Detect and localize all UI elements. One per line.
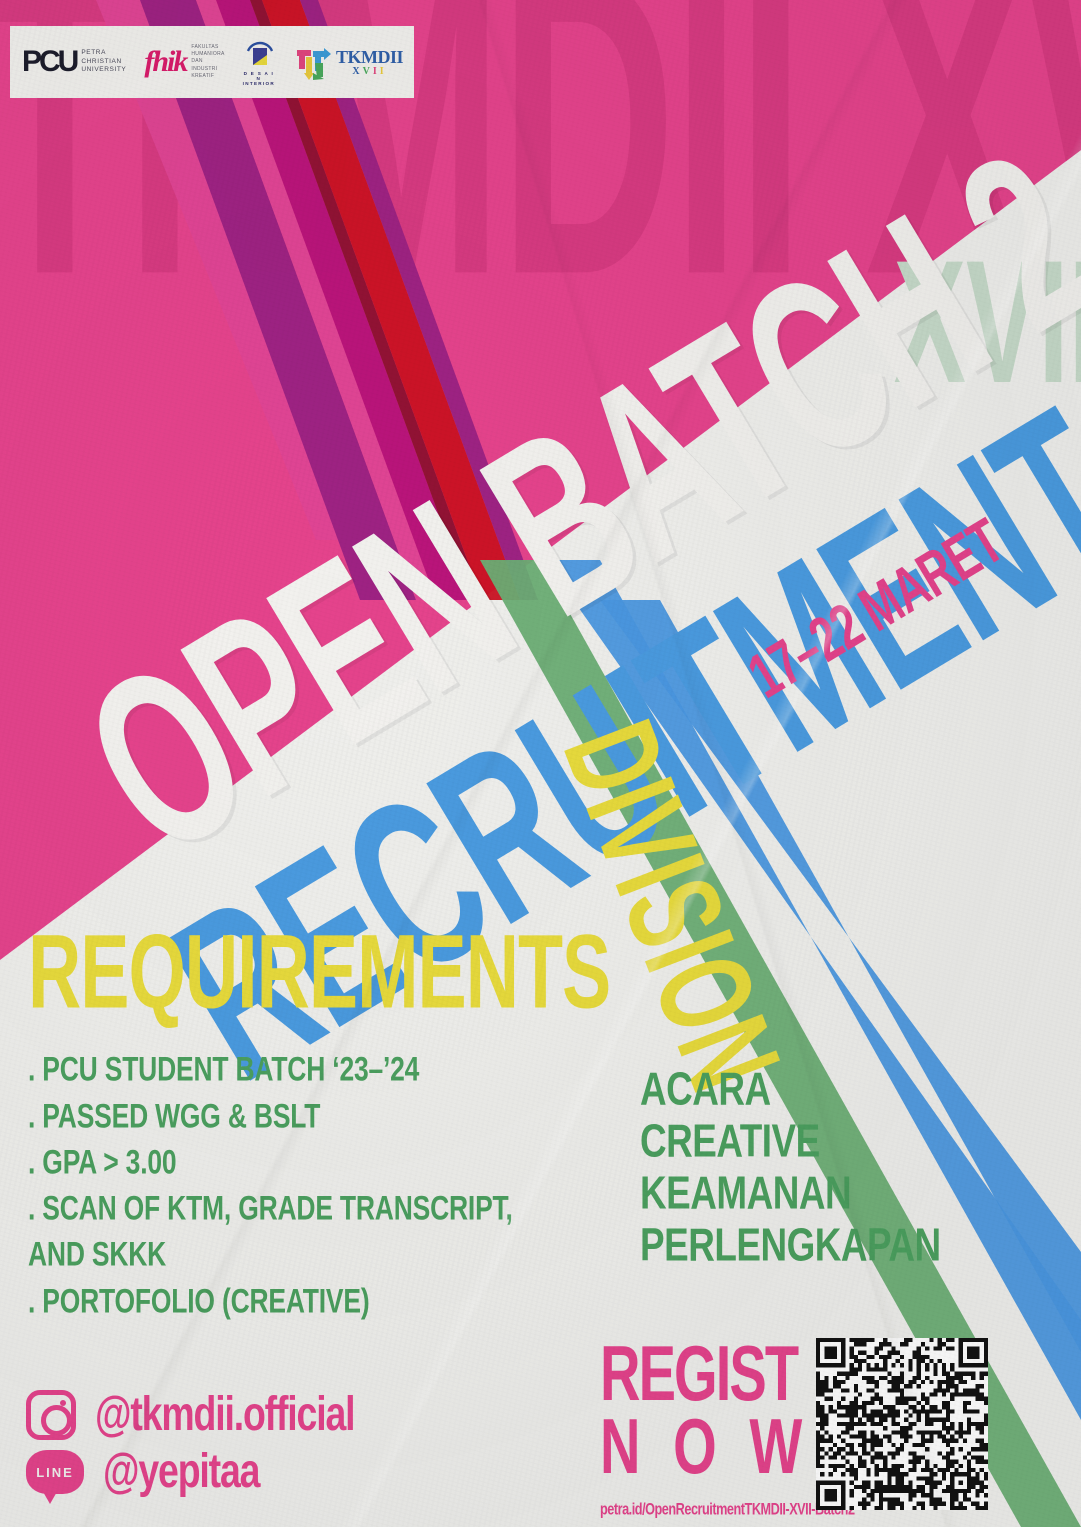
fhik-line-3: DAN INDUSTRI [191, 58, 217, 71]
instagram-handle: @tkmdii.official [95, 1388, 354, 1443]
social-row-line[interactable]: LINE @yepitaa [26, 1450, 365, 1494]
sponsor-logo-bar: PCU PETRA CHRISTIAN UNIVERSITY fhik FAKU… [10, 26, 414, 98]
line-handle: @yepitaa [103, 1445, 259, 1500]
desain-interior-mark-icon [245, 39, 273, 69]
fhik-line-4: KREATIF [191, 73, 214, 79]
logo-fhik: fhik FAKULTAS HUMANIORA DAN INDUSTRI KRE… [144, 26, 224, 98]
fhik-line-2: HUMANIORA [191, 51, 224, 57]
division-item: PERLENGKAPAN [640, 1214, 941, 1277]
di-line-2: INTERIOR [243, 81, 275, 86]
requirement-item: . PORTOFOLIO (CREATIVE) [28, 1278, 577, 1326]
logo-tkmdii: TKMDII XVII [293, 26, 403, 98]
logo-pcu: PCU PETRA CHRISTIAN UNIVERSITY [22, 26, 126, 98]
pcu-line-2: CHRISTIAN [81, 58, 121, 65]
requirement-item: . PASSED WGG & BSLT [28, 1093, 577, 1141]
requirements-block: REQUIREMENTS . PCU STUDENT BATCH ‘23–’24… [28, 926, 588, 1324]
tkmdii-roman-text: XVII [352, 67, 386, 77]
fhik-lockup-text: FAKULTAS HUMANIORA DAN INDUSTRI KREATIF [191, 44, 224, 80]
pcu-line-3: UNIVERSITY [81, 66, 126, 73]
poster-canvas: TKMDII XVII XVII PCU [0, 0, 1081, 1527]
requirement-item: . PCU STUDENT BATCH ‘23–’24 [28, 1046, 577, 1094]
pcu-line-1: PETRA [81, 49, 106, 56]
divisions-block: ACARA CREATIVE KEAMANAN PERLENGKAPAN [640, 1058, 950, 1266]
qr-code[interactable] [816, 1338, 988, 1510]
requirements-title: REQUIREMENTS [28, 926, 571, 1020]
desain-interior-text: D E S A I N INTERIOR [243, 71, 275, 86]
qr-code-svg [816, 1338, 988, 1510]
fhik-line-1: FAKULTAS [191, 44, 218, 50]
requirement-item: . GPA > 3.00 [28, 1139, 577, 1187]
fhik-wordmark-icon: fhik [144, 45, 186, 79]
instagram-icon [26, 1390, 76, 1440]
social-block: @tkmdii.official LINE @yepitaa [26, 1390, 365, 1504]
line-icon: LINE [26, 1450, 84, 1494]
tkmdii-wordmark: TKMDII XVII [336, 48, 403, 77]
pcu-lockup-text: PETRA CHRISTIAN UNIVERSITY [81, 49, 126, 75]
tkmdii-arrows-icon [293, 45, 333, 79]
line-icon-label: LINE [36, 1465, 74, 1480]
logo-desain-interior: D E S A I N INTERIOR [243, 26, 275, 98]
requirement-item: . SCAN OF KTM, GRADE TRANSCRIPT, [28, 1185, 577, 1233]
pcu-wordmark-icon: PCU [22, 45, 76, 79]
requirement-item: AND SKKK [28, 1231, 577, 1279]
requirements-list: . PCU STUDENT BATCH ‘23–’24 . PASSED WGG… [28, 1046, 588, 1315]
social-row-instagram[interactable]: @tkmdii.official [26, 1390, 365, 1440]
di-line-1: D E S A I N [244, 71, 275, 81]
tkmdii-title-text: TKMDII [336, 48, 403, 66]
